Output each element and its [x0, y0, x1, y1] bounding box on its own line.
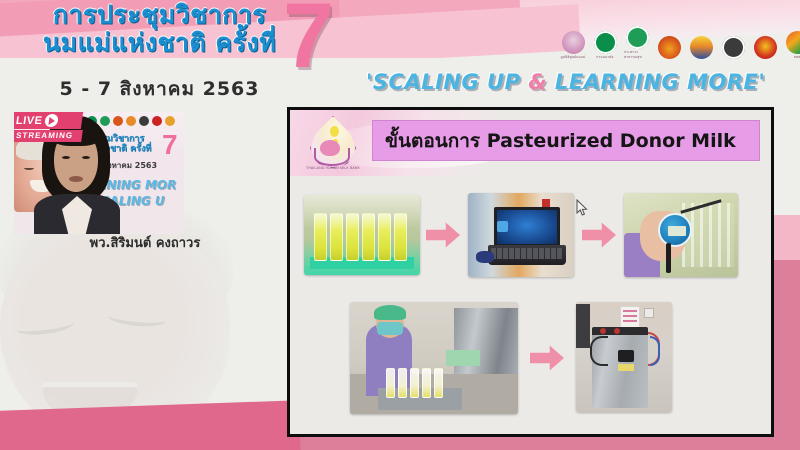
live-badge-label-row: LIVE [14, 112, 83, 129]
speaker-video-feed[interactable]: การประชุมวิชาการ นมแม่แห่งชาติ ครั้งที่ … [14, 112, 184, 234]
decorative-pink-band [0, 400, 301, 450]
play-icon [45, 114, 60, 127]
pediatric-society-logo [752, 26, 778, 60]
ministry-of-public-health-logo: กรมอนามัย [592, 26, 618, 60]
live-badge-text: LIVE [15, 115, 43, 127]
slogan-prefix: 'SCALING UP [366, 70, 528, 94]
photo-milk-bottles-on-rack [304, 195, 420, 275]
process-arrow-1 [426, 222, 460, 248]
conference-title-line1: การประชุมวิชาการ [22, 2, 297, 28]
live-streaming-badge: LIVE STREAMING [14, 112, 82, 142]
sponsor-logo-row: มูลนิธิศูนย์นมแม่ กรมอนามัย กระทรวงสาธาร… [560, 26, 800, 60]
presentation-slide[interactable]: THAILAND HUMAN MILK BANK ขั้นตอนการ Past… [287, 107, 774, 437]
photo-handheld-thermometer [624, 193, 738, 277]
process-arrow-3 [530, 345, 564, 371]
logo-caption: THAILAND HUMAN MILK BANK [302, 166, 364, 170]
slogan-suffix: LEARNING MORE' [547, 70, 765, 94]
photo-pasteurizer-machine [576, 302, 672, 412]
royal-emblem-logo [656, 26, 682, 60]
video-backdrop-number: 7 [162, 131, 178, 159]
live-badge-sublabel: STREAMING [14, 130, 83, 142]
conference-header-banner: การประชุมวิชาการ นมแม่แห่งชาติ ครั้งที่ … [0, 0, 800, 104]
photo-nurse-loading-bottles [350, 302, 518, 414]
process-arrow-2 [582, 222, 616, 248]
nursing-council-logo [720, 26, 746, 60]
conference-title-line2: นมแม่แห่งชาติ ครั้งที่ [22, 30, 297, 56]
screen-root: การประชุมวิชาการ นมแม่แห่งชาติ ครั้งที่ … [0, 0, 800, 450]
speaker-name-label: พว.สิริมนต์ คงถาวร [20, 232, 270, 253]
conference-title: การประชุมวิชาการ นมแม่แห่งชาติ ครั้งที่ [22, 2, 297, 55]
slide-title-banner: ขั้นตอนการ Pasteurized Donor Milk [372, 120, 760, 161]
conference-edition-number: 7 [283, 0, 334, 82]
mouse-pointer [576, 199, 588, 222]
royal-regalia-logo [688, 26, 714, 60]
conference-date: 5 - 7 สิงหาคม 2563 [22, 74, 297, 104]
slogan-ampersand: & [528, 70, 547, 94]
slide-title-text: ขั้นตอนการ Pasteurized Donor Milk [373, 126, 736, 156]
thaihealth-sss-logo: สสส [784, 26, 800, 60]
photo-laptop-data-logging [468, 193, 574, 277]
department-of-health-logo: กระทรวงสาธารณสุข [624, 26, 650, 60]
process-row-top [290, 195, 774, 281]
thai-breastfeeding-foundation-logo: มูลนิธิศูนย์นมแม่ [560, 26, 586, 60]
human-milk-bank-drop-logo: THAILAND HUMAN MILK BANK [302, 114, 364, 182]
process-row-bottom [290, 302, 774, 420]
conference-slogan: 'SCALING UP & LEARNING MORE' [366, 70, 765, 94]
